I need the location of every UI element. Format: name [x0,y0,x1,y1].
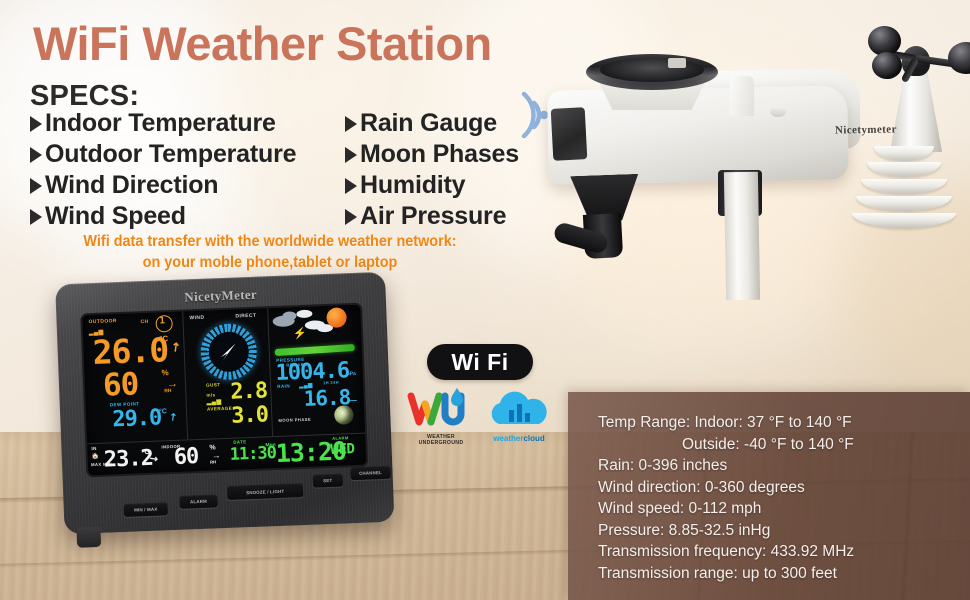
dew-point-unit: °C [159,408,167,415]
home-icon: 🏠 [92,453,100,460]
pressure-unit: hPa [347,371,356,377]
indoor-humidity-trend-icon: → [212,450,221,460]
wifi-logo-text: Wi Fi [451,349,508,376]
wind-average-value: 3.0 [231,402,269,428]
page-title: WiFi Weather Station [33,16,492,71]
funnel-label-chip [668,58,686,68]
triangle-bullet-icon [30,209,42,225]
spec-item-label: Rain Gauge [360,109,497,138]
channel-button[interactable]: CHANNEL [350,466,390,481]
triangle-bullet-icon [30,116,42,132]
wifi-logo: Wi Fi [427,344,533,380]
dew-point-value: 29.0 [112,405,162,432]
weathercloud-text-a: weather [493,434,523,443]
channel-label: CH [140,319,148,325]
lcd-forecast-panel: ⚡ PRESSURE REL ABS 1004.6 hPa RAIN ▂▄▆ 1… [268,305,365,436]
sensor-main-housing [547,85,849,184]
weather-underground-logo-text: WEATHER UNDERGROUND [405,434,477,446]
lcd-outdoor-panel: OUTDOOR ▂▄▆ CH 1 26.0 °C ↗ 60 % → RH DEW… [82,312,188,444]
poster-canvas: WiFi Weather Station SPECS: Indoor Tempe… [0,0,970,600]
triangle-bullet-icon [30,178,42,194]
shield-plate [867,162,941,177]
spec-detail-row: Rain: 0-396 inches [598,455,962,477]
anemometer-cup [872,52,902,79]
triangle-bullet-icon [345,147,357,163]
wind-label: WIND [189,315,204,322]
rain-label: RAIN [277,383,290,388]
set-button-label: SET [323,478,332,483]
weather-console-display[interactable]: NicetyMeter OUTDOOR ▂▄▆ CH 1 26.0 °C ↗ 6… [55,272,395,546]
average-label: AVERAGE [207,406,232,412]
weathercloud-logo-text: weathercloud [483,434,555,443]
spec-detail-row: Wind speed: 0-112 mph [598,498,962,520]
spec-item-label: Wind Speed [45,202,186,231]
mounting-mast [724,172,760,301]
tagline: Wifi data transfer with the worldwide we… [19,231,521,273]
spec-item-label: Outdoor Temperature [45,140,296,169]
outdoor-humidity-value: 60 [102,366,139,403]
rain-trend-icon: — [348,395,357,405]
indoor-label: IN [91,446,97,451]
spec-item: Wind Direction [30,170,296,201]
spec-item: Air Pressure [345,201,519,232]
min-max-button-label: MIN / MAX [134,507,157,513]
rain-funnel-interior [600,58,704,82]
gust-label: GUST [206,382,221,388]
spec-item: Moon Phases [345,139,519,170]
lcd-screen: OUTDOOR ▂▄▆ CH 1 26.0 °C ↗ 60 % → RH DEW… [82,305,366,476]
anemometer-post [890,66,942,152]
anemometer-cup [948,42,970,74]
spec-item: Outdoor Temperature [30,139,296,170]
weathercloud-logo-icon [483,388,555,430]
spec-detail-row: Pressure: 8.85-32.5 inHg [598,520,962,542]
weathercloud-text-b: cloud [523,434,544,443]
spec-item-label: Moon Phases [360,140,519,169]
shield-plate [852,213,956,228]
outdoor-sensor-unit: Nicetymeter [520,0,970,300]
triangle-bullet-icon [30,147,42,163]
dew-point-trend-icon: ↗ [167,411,180,425]
radiation-shield [848,146,960,252]
channel-number: 1 [159,316,165,326]
lightning-bolt-icon: ⚡ [293,327,307,341]
solar-panel [551,107,588,161]
shield-plate [861,179,947,194]
triangle-bullet-icon [345,178,357,194]
shield-plate [874,146,934,161]
spec-item: Wind Speed [30,201,296,232]
outdoor-label: OUTDOOR [88,318,117,325]
cloud-icon [296,310,312,319]
spec-item-label: Wind Direction [45,171,218,200]
snooze-light-button-label: SNOOZE / LIGHT [246,488,284,494]
alarm-button[interactable]: ALARM [179,494,217,508]
rain-period-label: 1H 24H [323,380,339,386]
spec-detail-row: Wind direction: 0-360 degrees [598,477,962,499]
spec-detail-row: Transmission frequency: 433.92 MHz [598,541,962,563]
weather-underground-logo-icon [405,388,477,430]
specifications-list: Temp Range: Indoor: 37 °F to 140 °F Outs… [598,412,962,584]
lcd-upper-region: OUTDOOR ▂▄▆ CH 1 26.0 °C ↗ 60 % → RH DEW… [82,305,365,444]
wind-unit-label: m/s [206,392,215,397]
spec-item-label: Indoor Temperature [45,109,276,138]
outdoor-temperature-unit: °C [159,334,168,343]
specs-list-right: Rain Gauge Moon Phases Humidity Air Pres… [345,108,519,232]
alarm-indicator-label: ALARM [332,435,349,441]
tagline-line-2: on your moble phone,tablet or laptop [19,252,521,273]
spec-detail-row: Temp Range: Indoor: 37 °F to 140 °F [598,412,962,434]
sensor-vent-stub [730,76,754,116]
weekday-value: WED [330,441,354,458]
spec-detail-row: Outside: -40 °F to 140 °F [598,434,962,456]
spec-item-label: Humidity [360,171,465,200]
spec-item: Indoor Temperature [30,108,296,139]
console-stand-foot [76,527,101,548]
wind-signal-icon: ▂▄▆ [207,398,222,406]
specs-list-left: Indoor Temperature Outdoor Temperature W… [30,108,296,232]
service-logos: Wi Fi WEATHER UNDERGROUND weathercloud [405,344,555,449]
spec-item: Rain Gauge [345,108,519,139]
month-indicator: Mon [265,442,276,448]
min-max-button[interactable]: MIN / MAX [124,502,168,517]
wind-gust-value: 2.8 [230,378,268,404]
triangle-bullet-icon [345,116,357,132]
triangle-bullet-icon [345,209,357,225]
spec-detail-row: Transmission range: up to 300 feet [598,563,962,585]
moon-phase-icon [334,405,354,425]
sun-icon [326,307,347,328]
outdoor-humidity-rh-label: RH [164,388,171,394]
lcd-wind-panel: WIND DIRECT GUST m/s ▂▄▆ AVERAGE 2.8 3.0 [183,308,273,439]
wind-direction-label: DIRECT [235,313,256,320]
specifications-panel: Temp Range: Indoor: 37 °F to 140 °F Outs… [568,392,970,600]
outdoor-humidity-unit: % [161,368,168,377]
indoor-humidity-value: 60 [173,444,198,470]
sensor-knob [770,106,786,117]
channel-button-label: CHANNEL [359,470,382,476]
snooze-light-button[interactable]: SNOOZE / LIGHT [227,483,303,500]
shield-plate [856,196,952,211]
spec-item: Humidity [345,170,519,201]
wind-direction-needle-icon [217,340,240,363]
pressure-trend-bar [275,344,355,356]
moon-phase-label: MOON PHASE [278,417,311,423]
alarm-button-label: ALARM [190,499,207,505]
set-button[interactable]: SET [313,474,343,488]
tagline-line-1: Wifi data transfer with the worldwide we… [83,233,456,250]
sensor-brand-label: Nicetymeter [835,123,897,136]
outdoor-temp-trend-icon: ↗ [167,338,183,355]
spec-item-label: Air Pressure [360,202,506,231]
